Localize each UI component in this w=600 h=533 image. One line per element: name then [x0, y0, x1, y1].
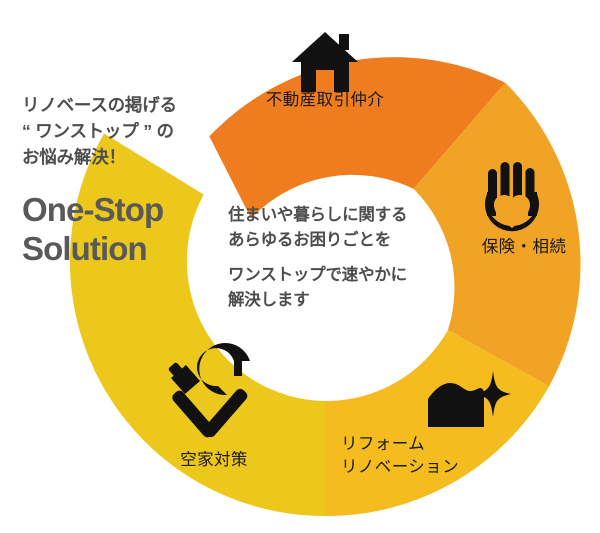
center-paragraph-1-line-2: あらゆるお困りごとを: [228, 228, 463, 253]
brand-title-line-2: Solution: [22, 230, 232, 269]
segment-label-insurance[interactable]: 保険・相続: [482, 236, 567, 259]
brand-title: One-Stop Solution: [22, 191, 232, 269]
segment-label-renovation-line-2: リノベーション: [341, 456, 459, 479]
headline-block: リノベースの掲げる “ ワンストップ ” の お悩み解決！ One-Stop S…: [22, 93, 232, 269]
brand-title-line-1: One-Stop: [22, 191, 232, 230]
lead-line-3: お悩み解決！: [22, 145, 232, 171]
center-paragraph-1-line-1: 住まいや暮らしに関する: [228, 203, 463, 228]
segment-label-vacant-house[interactable]: 空家対策: [180, 449, 248, 472]
paragraph-spacer: [228, 253, 463, 263]
infographic-canvas: リノベースの掲げる “ ワンストップ ” の お悩み解決！ One-Stop S…: [0, 0, 600, 533]
segment-label-renovation-line-1: リフォーム: [341, 433, 459, 456]
lead-line-2: “ ワンストップ ” の: [22, 119, 232, 145]
lead-line-1: リノベースの掲げる: [22, 93, 232, 119]
center-paragraph-block: 住まいや暮らしに関する あらゆるお困りごとを ワンストップで速やかに 解決します: [228, 203, 463, 313]
segment-label-real-estate-line-1: 不動産取引仲介: [266, 89, 384, 112]
center-paragraph-2-line-1: ワンストップで速やかに: [228, 263, 463, 288]
segment-label-insurance-line-1: 保険・相続: [482, 236, 567, 259]
segment-label-vacant-house-line-1: 空家対策: [180, 449, 248, 472]
segment-label-renovation[interactable]: リフォーム リノベーション: [341, 433, 459, 480]
center-paragraph-2-line-2: 解決します: [228, 288, 463, 313]
segment-label-real-estate[interactable]: 不動産取引仲介: [266, 89, 384, 112]
